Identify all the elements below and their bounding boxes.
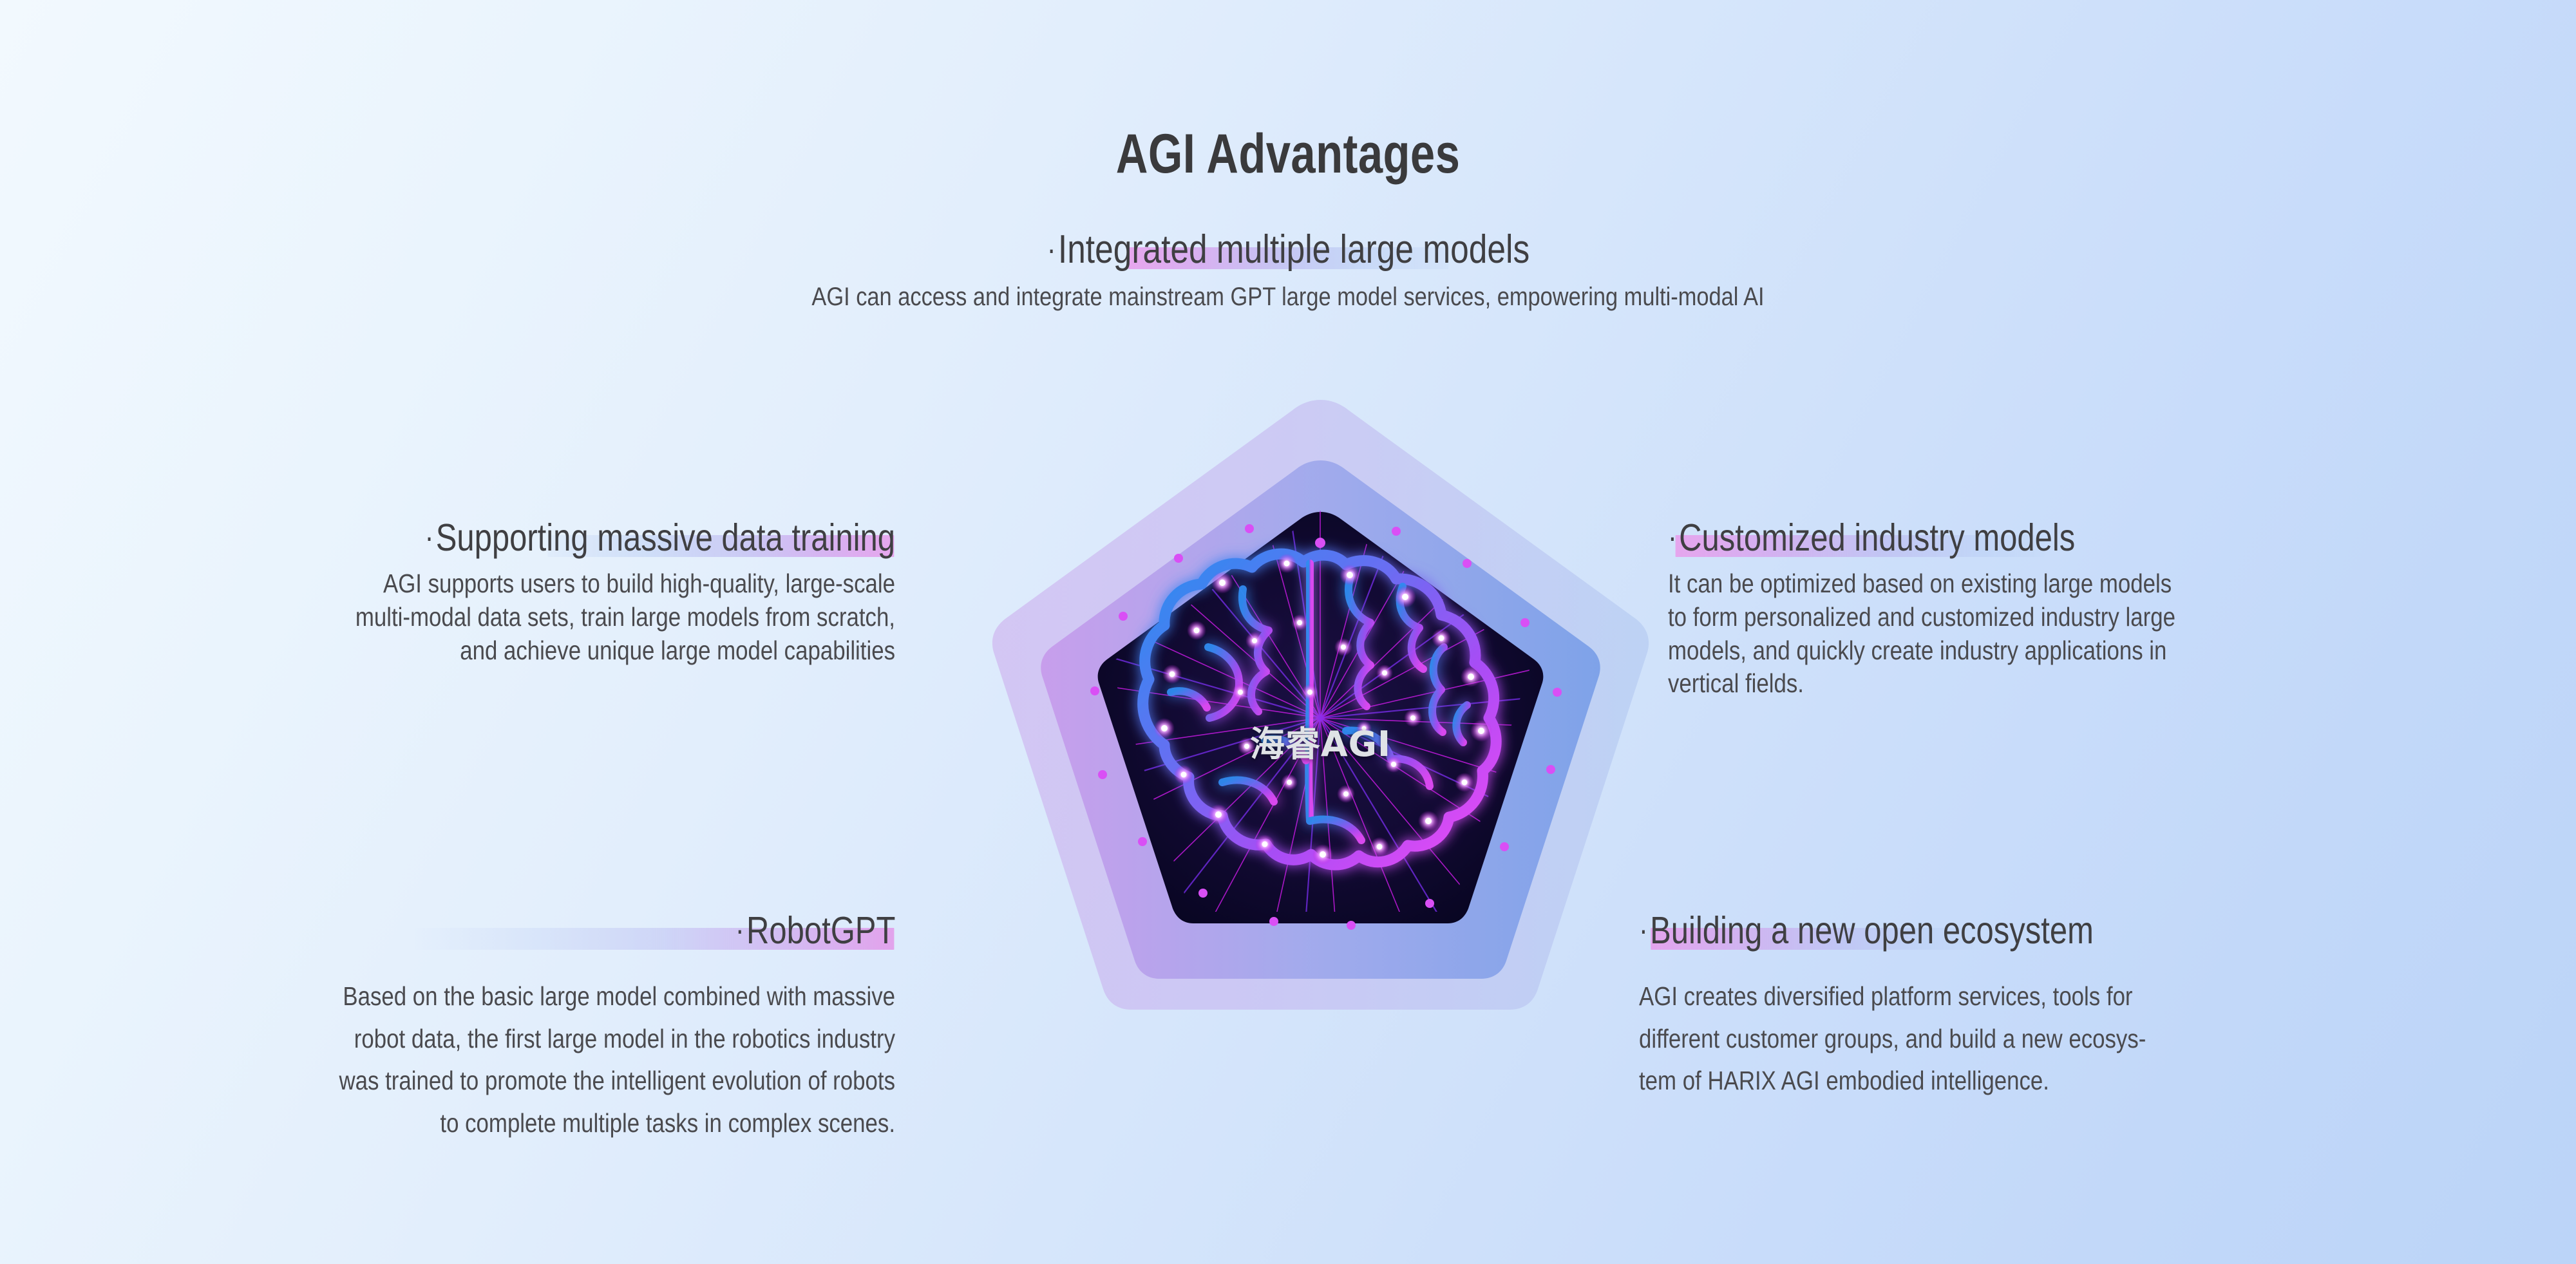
- advantage-heading-left-middle-text: Supporting massive data training: [436, 516, 895, 559]
- pentagon-brain-graphic: 海睿AGI: [952, 370, 1689, 1108]
- advantage-body-right-bottom: AGI creates diversified platform service…: [1639, 976, 2414, 1102]
- advantage-heading-left-bottom-text: RobotGPT: [746, 909, 895, 952]
- page-title: AGI Advantages: [258, 122, 2318, 186]
- advantage-customized-industry-models: ·Customized industry models It can be op…: [1668, 518, 2557, 701]
- infographic-canvas: AGI Advantages: [0, 0, 2576, 1264]
- advantage-heading-right-middle: ·Customized industry models: [1668, 518, 2075, 558]
- advantage-integrated-multiple-large-models: ·Integrated multiple large models AGI ca…: [0, 229, 2576, 314]
- advantage-heading-top-text: Integrated multiple large models: [1057, 227, 1529, 272]
- bullet-dot-icon: ·: [1046, 231, 1056, 267]
- advantage-heading-left-bottom: ·RobotGPT: [735, 911, 895, 951]
- advantage-building-a-new-open-ecosystem: ·Building a new open ecosystem AGI creat…: [1639, 911, 2541, 1102]
- bullet-dot-icon: ·: [1668, 519, 1677, 555]
- advantage-heading-top: ·Integrated multiple large models: [1046, 229, 1529, 270]
- advantage-heading-left-middle: ·Supporting massive data training: [425, 518, 895, 558]
- advantage-body-right-middle: It can be optimized based on existing la…: [1668, 567, 2432, 701]
- bullet-dot-icon: ·: [1639, 912, 1648, 948]
- bullet-dot-icon: ·: [425, 519, 434, 555]
- bullet-dot-icon: ·: [735, 912, 744, 948]
- advantage-supporting-massive-data-training: ·Supporting massive data training AGI su…: [26, 518, 895, 667]
- advantage-body-left-middle: AGI supports users to build high-quality…: [147, 567, 895, 667]
- advantage-body-top: AGI can access and integrate mainstream …: [180, 281, 2396, 314]
- advantage-robotgpt: ·RobotGPT Based on the basic large model…: [26, 911, 895, 1144]
- advantage-heading-right-bottom-text: Building a new open ecosystem: [1650, 909, 2094, 952]
- advantage-heading-right-bottom: ·Building a new open ecosystem: [1639, 911, 2094, 951]
- advantage-body-left-bottom: Based on the basic large model combined …: [147, 976, 895, 1144]
- advantage-heading-right-middle-text: Customized industry models: [1679, 516, 2075, 559]
- pentagon-brain-svg: [952, 370, 1689, 1108]
